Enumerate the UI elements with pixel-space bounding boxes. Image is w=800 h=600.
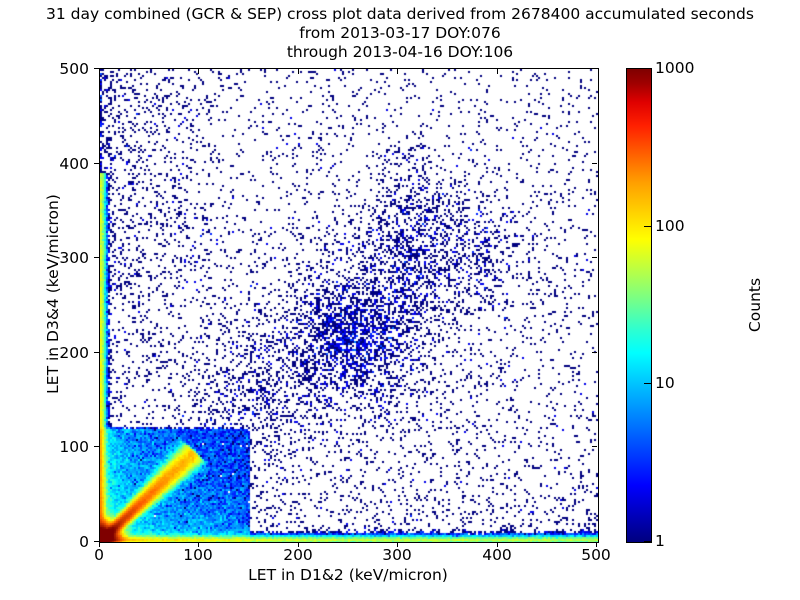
colorbar-ticklabel-1: 1 xyxy=(655,532,665,550)
y-tick-right-400 xyxy=(592,163,597,164)
x-ticklabel-500: 500 xyxy=(561,546,631,564)
y-axis-label: LET in D3&4 (keV/micron) xyxy=(44,144,62,444)
y-tick-200 xyxy=(94,352,99,353)
x-tick-top-100 xyxy=(198,69,199,74)
colorbar-axis-label: Counts xyxy=(746,155,764,455)
colorbar-gradient xyxy=(626,68,652,543)
colorbar-ticklabel-1000: 1000 xyxy=(655,59,694,77)
x-tick-top-200 xyxy=(298,69,299,74)
x-tick-top-300 xyxy=(397,69,398,74)
plot-axes-area xyxy=(99,68,599,543)
x-tick-top-400 xyxy=(497,69,498,74)
y-tick-right-200 xyxy=(592,352,597,353)
colorbar-tick-1 xyxy=(644,541,651,542)
y-ticklabel-0: 0 xyxy=(19,533,89,551)
y-ticklabel-500: 500 xyxy=(19,60,89,78)
x-ticklabel-300: 300 xyxy=(362,546,432,564)
title-line-2: from 2013-03-17 DOY:076 xyxy=(0,24,800,43)
colorbar-tick-1000 xyxy=(644,68,651,69)
x-ticklabel-100: 100 xyxy=(163,546,233,564)
figure-canvas: 31 day combined (GCR & SEP) cross plot d… xyxy=(0,0,800,600)
plot-title: 31 day combined (GCR & SEP) cross plot d… xyxy=(0,5,800,62)
x-ticklabel-200: 200 xyxy=(263,546,333,564)
y-tick-500 xyxy=(94,68,99,69)
x-ticklabel-400: 400 xyxy=(462,546,532,564)
colorbar-tick-10 xyxy=(644,383,651,384)
y-tick-0 xyxy=(94,541,99,542)
y-tick-right-300 xyxy=(592,257,597,258)
title-line-1: 31 day combined (GCR & SEP) cross plot d… xyxy=(0,5,800,24)
scatter-density-plot xyxy=(100,69,598,542)
y-tick-300 xyxy=(94,257,99,258)
colorbar-ticklabel-10: 10 xyxy=(655,374,675,392)
colorbar-tick-100 xyxy=(644,226,651,227)
y-tick-100 xyxy=(94,446,99,447)
y-tick-right-100 xyxy=(592,446,597,447)
x-axis-label: LET in D1&2 (keV/micron) xyxy=(99,566,597,584)
y-tick-400 xyxy=(94,163,99,164)
colorbar-ticklabel-100: 100 xyxy=(655,217,685,235)
